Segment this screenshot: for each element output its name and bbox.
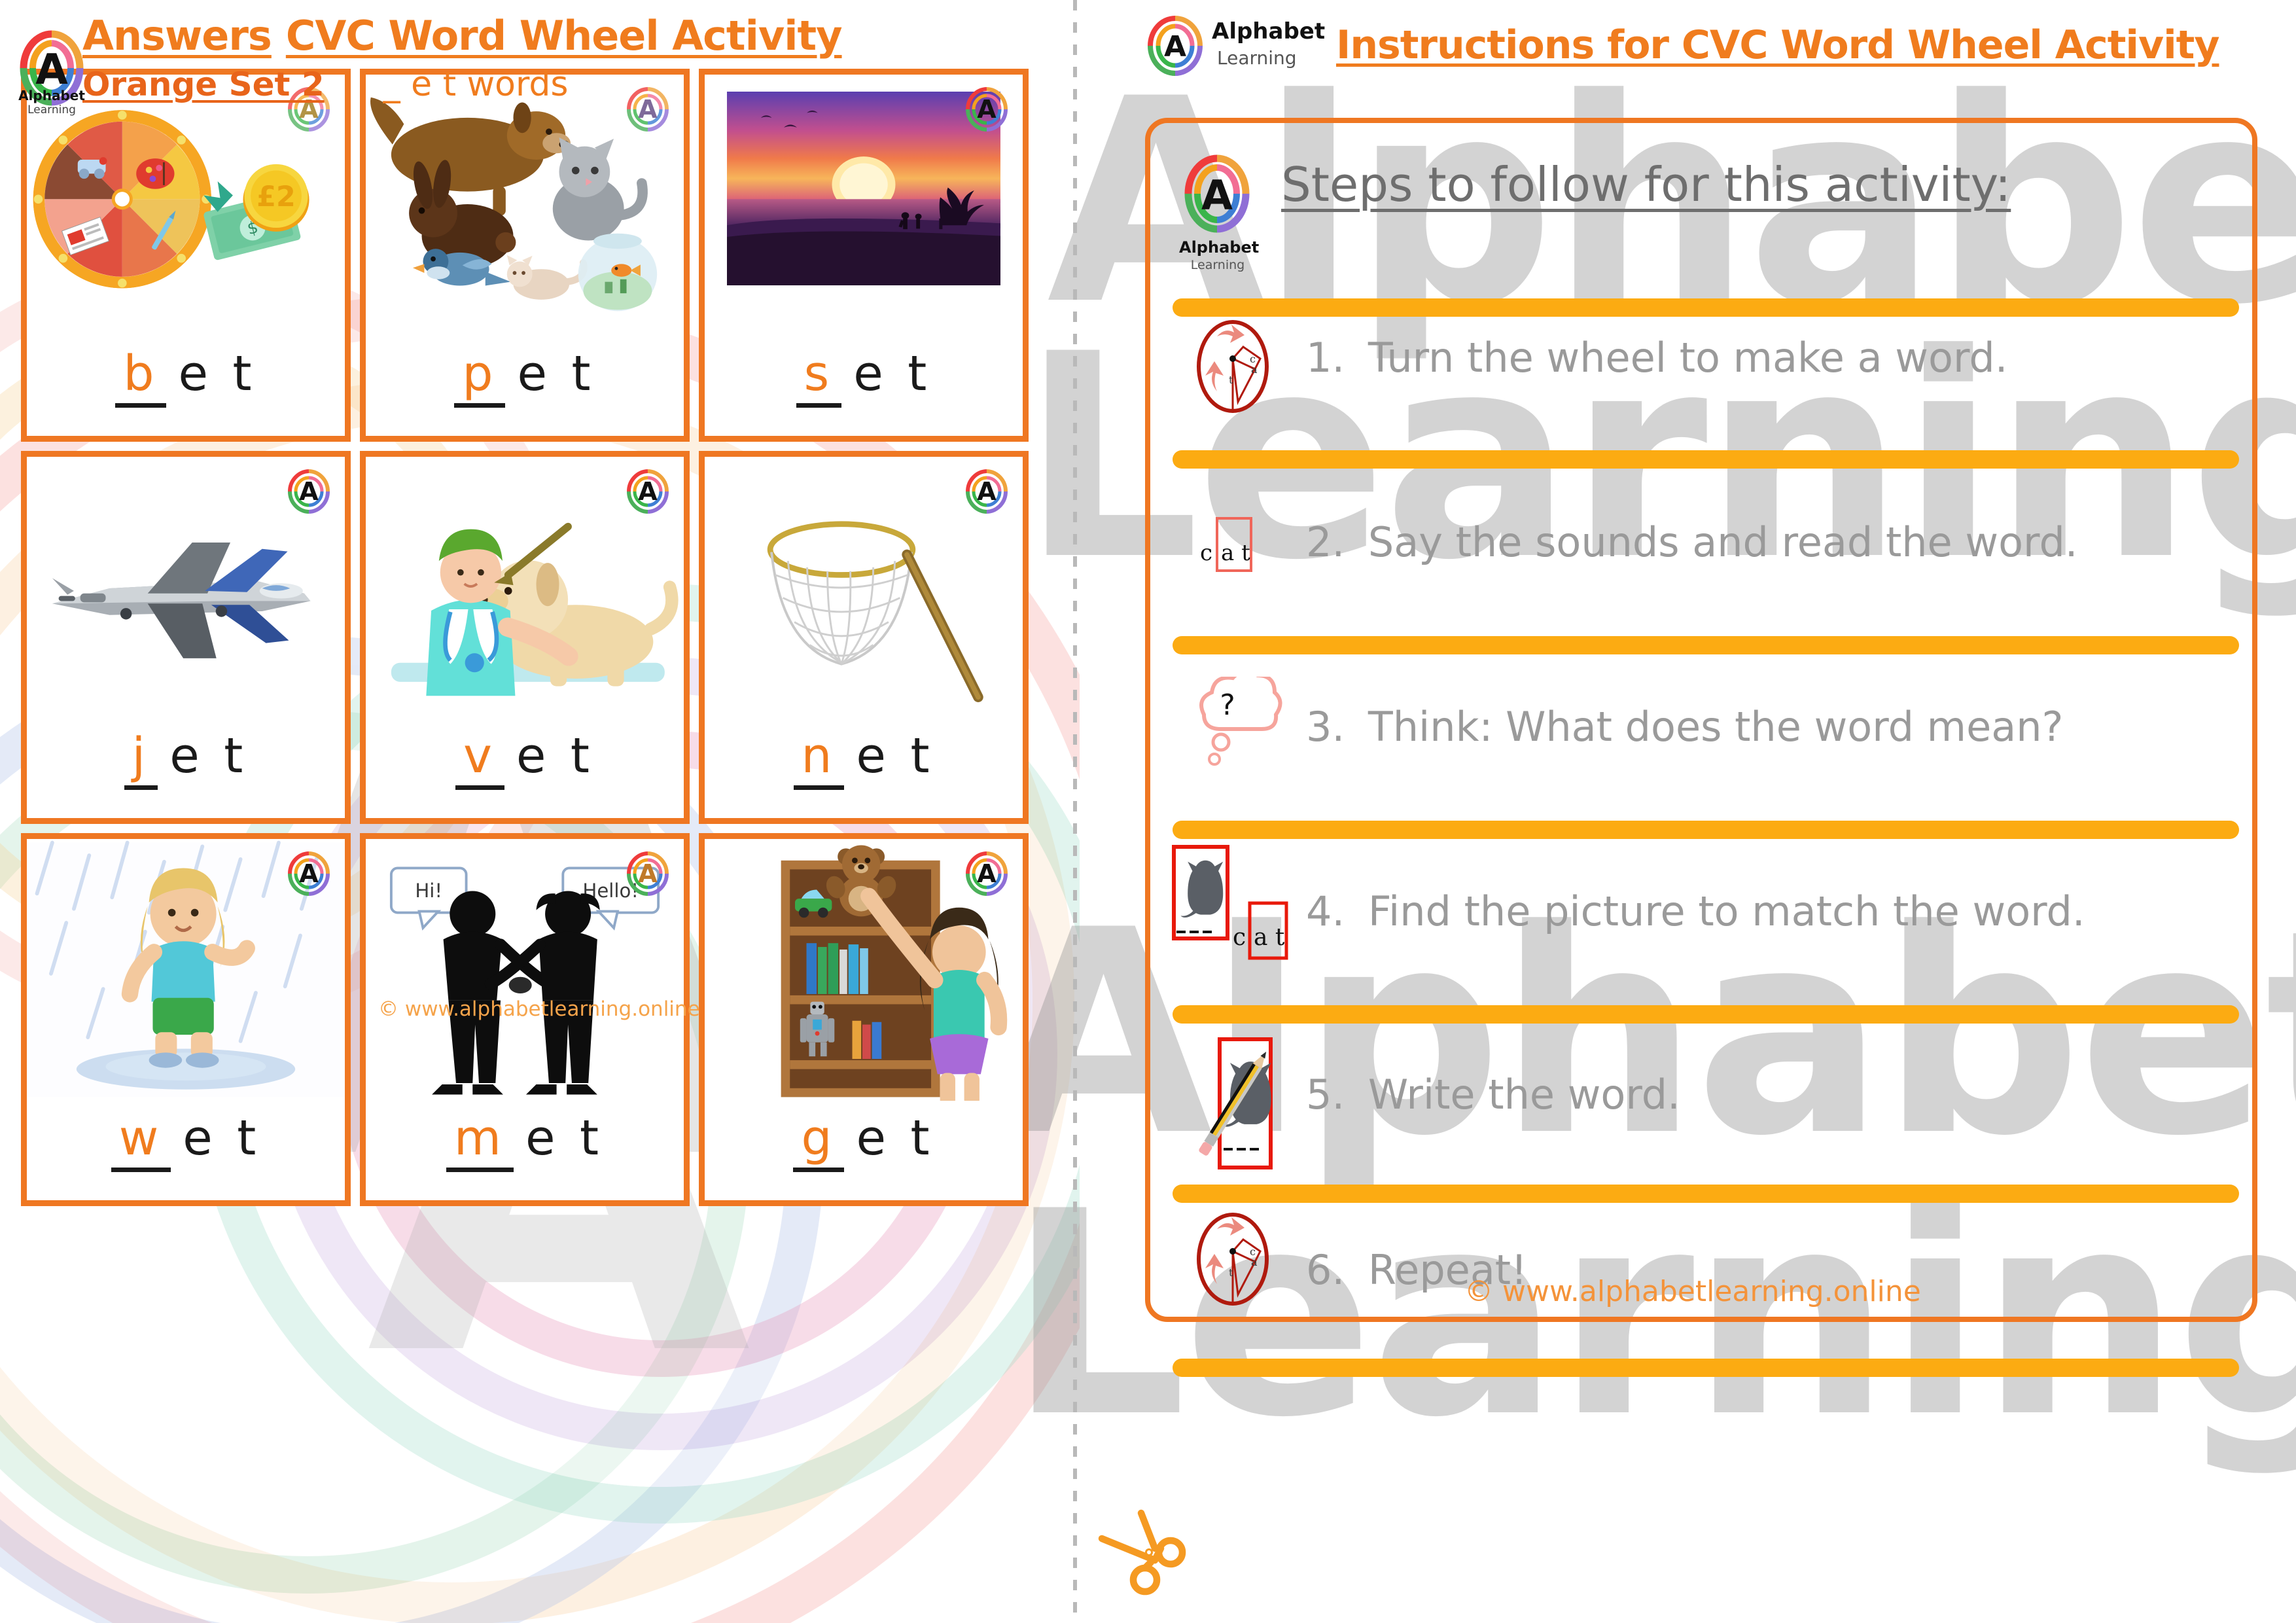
pencil-writing-card-icon	[1190, 1033, 1314, 1177]
badge-logo-icon: A	[624, 466, 672, 514]
step-1-number: 1.	[1306, 334, 1345, 382]
badge-logo-icon: A	[963, 466, 1011, 514]
badge-logo-icon: A	[963, 84, 1011, 132]
card-word-first-letter: s	[796, 346, 842, 408]
step-3-icon: ?	[1187, 677, 1285, 778]
sunset-beach-icon	[727, 92, 1000, 285]
brand-logo: A Alphabet Learning	[16, 5, 88, 123]
logo-name-line2: Learning	[1217, 47, 1297, 69]
badge-logo-icon: A	[285, 848, 333, 897]
logo-name-line1: Alphabet	[1212, 18, 1325, 45]
step-4-number: 4.	[1306, 887, 1345, 935]
svg-text:£2: £2	[256, 181, 296, 213]
svg-text:A: A	[977, 859, 997, 888]
card-word-rest: e t	[169, 728, 247, 784]
instructions-panel: A Alphabet Learning Instructions for CVC…	[1106, 0, 2296, 1623]
step-2-number: 2.	[1306, 518, 1345, 566]
worksheet-page: A A Alphabet Learning Alphabet Learning	[0, 0, 2296, 1623]
svg-text:t: t	[1229, 374, 1233, 386]
answer-card-vet[interactable]: A ve t	[360, 451, 690, 824]
svg-text:A: A	[977, 477, 997, 506]
logo-name-line2: Learning	[1191, 258, 1245, 272]
card-word-first-letter: v	[455, 728, 504, 790]
step-3-number: 3.	[1306, 703, 1345, 751]
step-5-label: Write the word.	[1368, 1071, 1680, 1118]
answer-card-bet[interactable]: $ £2	[21, 69, 351, 442]
card-word-pet: pe t	[366, 346, 684, 402]
divider-rule-4	[1173, 1005, 2239, 1024]
step-2-icon: c a t	[1195, 500, 1286, 588]
card-word-set: se t	[705, 346, 1023, 402]
step-4-text: 4. Find the picture to match the word.	[1306, 887, 2085, 935]
copyright-left: © www.alphabetlearning.online	[378, 997, 700, 1021]
rotating-word-wheel-icon: c a t	[1187, 1211, 1279, 1309]
picture-card-match-icon: c a t	[1165, 840, 1309, 971]
logo-brand-name: Alphabet	[16, 89, 88, 103]
svg-text:a t: a t	[1254, 924, 1285, 951]
card-word-rest: e t	[525, 1110, 603, 1166]
card-word-net: ne t	[705, 728, 1023, 784]
logo-name-line1: Alphabet	[18, 88, 85, 103]
brand-logo-inner: A Alphabet Learning	[1179, 140, 1256, 264]
cat-letters-box-icon: c a t	[1195, 500, 1286, 585]
page-subtitle-pattern: _ e t words	[383, 65, 569, 104]
page-title-main: CVC Word Wheel Activity	[286, 12, 842, 60]
svg-text:c: c	[1233, 924, 1246, 951]
logo-small-sub: Learning	[1217, 47, 1297, 69]
svg-text:a: a	[1251, 363, 1258, 376]
card-word-rest: e t	[856, 1110, 934, 1166]
card-word-wet: we t	[27, 1110, 345, 1166]
card-word-bet: be t	[27, 346, 345, 402]
card-word-met: me t	[366, 1110, 684, 1166]
logo-name-line2: Learning	[27, 103, 76, 116]
card-word-rest: e t	[853, 346, 931, 402]
step-5-number: 5.	[1306, 1071, 1345, 1118]
step-1-icon: c a t	[1187, 318, 1279, 419]
card-word-rest: e t	[856, 728, 934, 784]
answer-card-set[interactable]: A se t	[699, 69, 1029, 442]
divider-rule-0	[1173, 298, 2239, 317]
card-word-first-letter: p	[454, 346, 505, 408]
answer-card-net[interactable]: A ne t	[699, 451, 1029, 824]
card-word-first-letter: g	[793, 1110, 844, 1172]
step-6-number: 6.	[1306, 1246, 1345, 1294]
badge-logo-icon: A	[624, 848, 672, 897]
step-3-label: Think: What does the word mean?	[1368, 703, 2064, 751]
step-5-icon	[1190, 1033, 1314, 1180]
svg-text:A: A	[1164, 30, 1186, 63]
logo-name-line1: Alphabet	[1179, 238, 1259, 257]
svg-text:A: A	[1201, 171, 1233, 219]
svg-text:a t: a t	[1221, 540, 1250, 566]
card-word-rest: e t	[178, 346, 256, 402]
instructions-title: Instructions for CVC Word Wheel Activity	[1336, 22, 2219, 68]
page-subtitle-set: Orange Set 2	[82, 65, 325, 103]
logo-small-name: Alphabet	[1212, 18, 1325, 45]
card-word-first-letter: m	[446, 1110, 514, 1172]
step-5-text: 5. Write the word.	[1306, 1071, 1680, 1118]
logo-inner-sub: Learning	[1179, 258, 1256, 272]
card-row-2: A je t	[21, 451, 1029, 824]
answers-panel: A Alphabet Learning Answers CVC Word Whe…	[0, 0, 1047, 1623]
answer-card-wet[interactable]: A we t	[21, 833, 351, 1206]
svg-text:?: ?	[1220, 688, 1235, 722]
answer-card-pet[interactable]: A pe t	[360, 69, 690, 442]
card-word-first-letter: j	[124, 728, 158, 790]
cut-line	[1073, 0, 1077, 1623]
answer-card-get[interactable]: A ge t	[699, 833, 1029, 1206]
step-2-label: Say the sounds and read the word.	[1368, 518, 2078, 566]
logo-inner-name: Alphabet	[1179, 238, 1256, 257]
svg-text:Hi!: Hi!	[415, 880, 442, 902]
logo-brand-sub: Learning	[16, 105, 88, 116]
brand-logo-small: A	[1144, 14, 1207, 77]
svg-text:A: A	[299, 477, 319, 506]
card-word-jet: je t	[27, 728, 345, 784]
svg-text:A: A	[638, 477, 658, 506]
card-word-first-letter: b	[115, 346, 166, 408]
badge-logo-icon: A	[963, 848, 1011, 897]
card-word-rest: e t	[183, 1110, 260, 1166]
step-1-label: Turn the wheel to make a word.	[1368, 334, 2008, 382]
instructions-box: A Alphabet Learning Steps to follow for …	[1145, 118, 2257, 1322]
step-2-text: 2. Say the sounds and read the word.	[1306, 518, 2078, 566]
svg-text:A: A	[299, 859, 319, 888]
card-word-first-letter: n	[794, 728, 845, 790]
page-title-answers: Answers	[82, 12, 272, 60]
answer-card-grid: $ £2	[21, 69, 1029, 1215]
badge-logo-icon: A	[285, 466, 333, 514]
step-4-label: Find the picture to match the word.	[1368, 887, 2085, 935]
divider-rule-5	[1173, 1185, 2239, 1203]
card-row-1: $ £2	[21, 69, 1029, 442]
alphabet-learning-logo-icon: A	[1144, 14, 1207, 77]
svg-text:a: a	[1251, 1256, 1258, 1268]
thought-bubble-question-icon: ?	[1187, 677, 1285, 775]
svg-text:t: t	[1229, 1266, 1233, 1279]
card-word-rest: e t	[516, 728, 594, 784]
copyright-right: © www.alphabetlearning.online	[1464, 1275, 1921, 1308]
svg-text:A: A	[638, 859, 658, 888]
step-3-text: 3. Think: What does the word mean?	[1306, 703, 2063, 751]
card-word-rest: e t	[517, 346, 595, 402]
rotating-word-wheel-icon: c a t	[1187, 318, 1279, 416]
svg-text:A: A	[977, 95, 997, 124]
divider-rule-3	[1173, 821, 2239, 839]
step-6-icon: c a t	[1187, 1211, 1279, 1312]
steps-heading: Steps to follow for this activity:	[1281, 157, 2011, 212]
divider-rule-2	[1173, 636, 2239, 654]
svg-text:c: c	[1200, 540, 1212, 566]
scissors-icon	[1094, 1505, 1192, 1607]
divider-rule-6	[1173, 1359, 2239, 1377]
step-1-text: 1. Turn the wheel to make a word.	[1306, 334, 2007, 382]
svg-text:A: A	[35, 46, 68, 94]
card-word-first-letter: w	[111, 1110, 171, 1172]
card-word-get: ge t	[705, 1110, 1023, 1166]
step-4-icon: c a t	[1165, 840, 1309, 974]
divider-rule-1	[1173, 450, 2239, 469]
answer-card-jet[interactable]: A je t	[21, 451, 351, 824]
card-word-vet: ve t	[366, 728, 684, 784]
alphabet-learning-logo-icon: A	[1179, 140, 1256, 245]
